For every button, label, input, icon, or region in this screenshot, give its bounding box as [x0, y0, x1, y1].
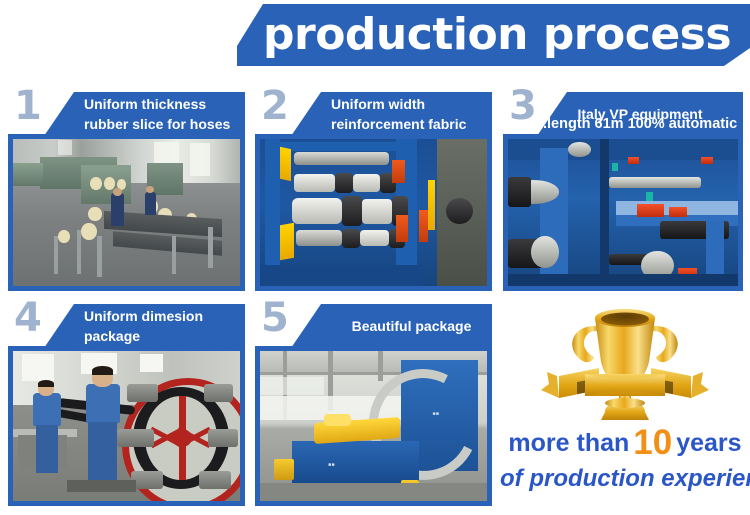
- photo-uniform-dimension-package: [13, 351, 240, 501]
- step-label-line-2: package: [84, 326, 245, 346]
- step-label: Beautiful package: [291, 304, 492, 348]
- photo-rubber-slice-line: [13, 139, 240, 286]
- process-step-2: 2 Uniform width reinforcement fabric: [255, 88, 492, 291]
- process-step-3: 3 Italy VP equipment Max.length 61m 100%…: [503, 88, 743, 291]
- step-number: 4: [14, 298, 42, 338]
- step-photo-frame: [503, 134, 743, 291]
- step-label-line-2: Max.length 61m 100% automatic: [509, 114, 743, 135]
- step-label-line-2: rubber slice for hoses: [84, 114, 245, 134]
- photo-reinforcement-fabric: [260, 139, 487, 286]
- step-number: 2: [261, 86, 289, 126]
- step-label-line-1: Uniform dimesion: [84, 306, 245, 326]
- step-photo-frame: [255, 134, 492, 291]
- experience-block: more than10years of production experienc…: [500, 300, 750, 515]
- step-photo-frame: ■■ ■■: [255, 346, 492, 506]
- years-headline: more than10years: [500, 423, 750, 463]
- trophy-icon: [537, 302, 713, 427]
- more-than-text: more than: [508, 429, 629, 457]
- step-label: Uniform thickness rubber slice for hoses: [44, 92, 245, 136]
- photo-italy-vp-equipment: [508, 139, 738, 286]
- step-label-line-2: reinforcement fabric: [331, 114, 492, 134]
- step-photo-frame: [8, 346, 245, 506]
- process-step-1: 1 Uniform thickness rubber slice for hos…: [8, 88, 245, 291]
- process-step-4: 4 Uniform dimesion package: [8, 300, 245, 506]
- step-label-line-1: Beautiful package: [331, 316, 492, 336]
- step-number: 5: [261, 298, 289, 338]
- step-label-line-1: Uniform width: [331, 94, 492, 114]
- years-number: 10: [629, 423, 676, 462]
- step-label: Uniform dimesion package: [44, 304, 245, 348]
- page-title: production process: [263, 13, 731, 57]
- step-number: 3: [509, 86, 537, 126]
- process-step-5: 5 Beautiful package ■■: [255, 300, 492, 506]
- step-label: Italy VP equipment Max.length 61m 100% a…: [537, 92, 743, 136]
- experience-subline: of production experience: [500, 465, 750, 493]
- machine-logo: ■■: [433, 411, 440, 417]
- step-label-line-1: Uniform thickness: [84, 94, 245, 114]
- step-number: 1: [14, 86, 42, 126]
- header-banner: production process: [237, 4, 750, 66]
- step-photo-frame: [8, 134, 245, 291]
- years-text: years: [676, 429, 741, 457]
- machine-logo: ■■: [328, 462, 335, 468]
- step-label: Uniform width reinforcement fabric: [291, 92, 492, 136]
- poster-canvas: production process 1 Uniform thickness r…: [0, 0, 750, 515]
- photo-beautiful-package: ■■ ■■: [260, 351, 487, 501]
